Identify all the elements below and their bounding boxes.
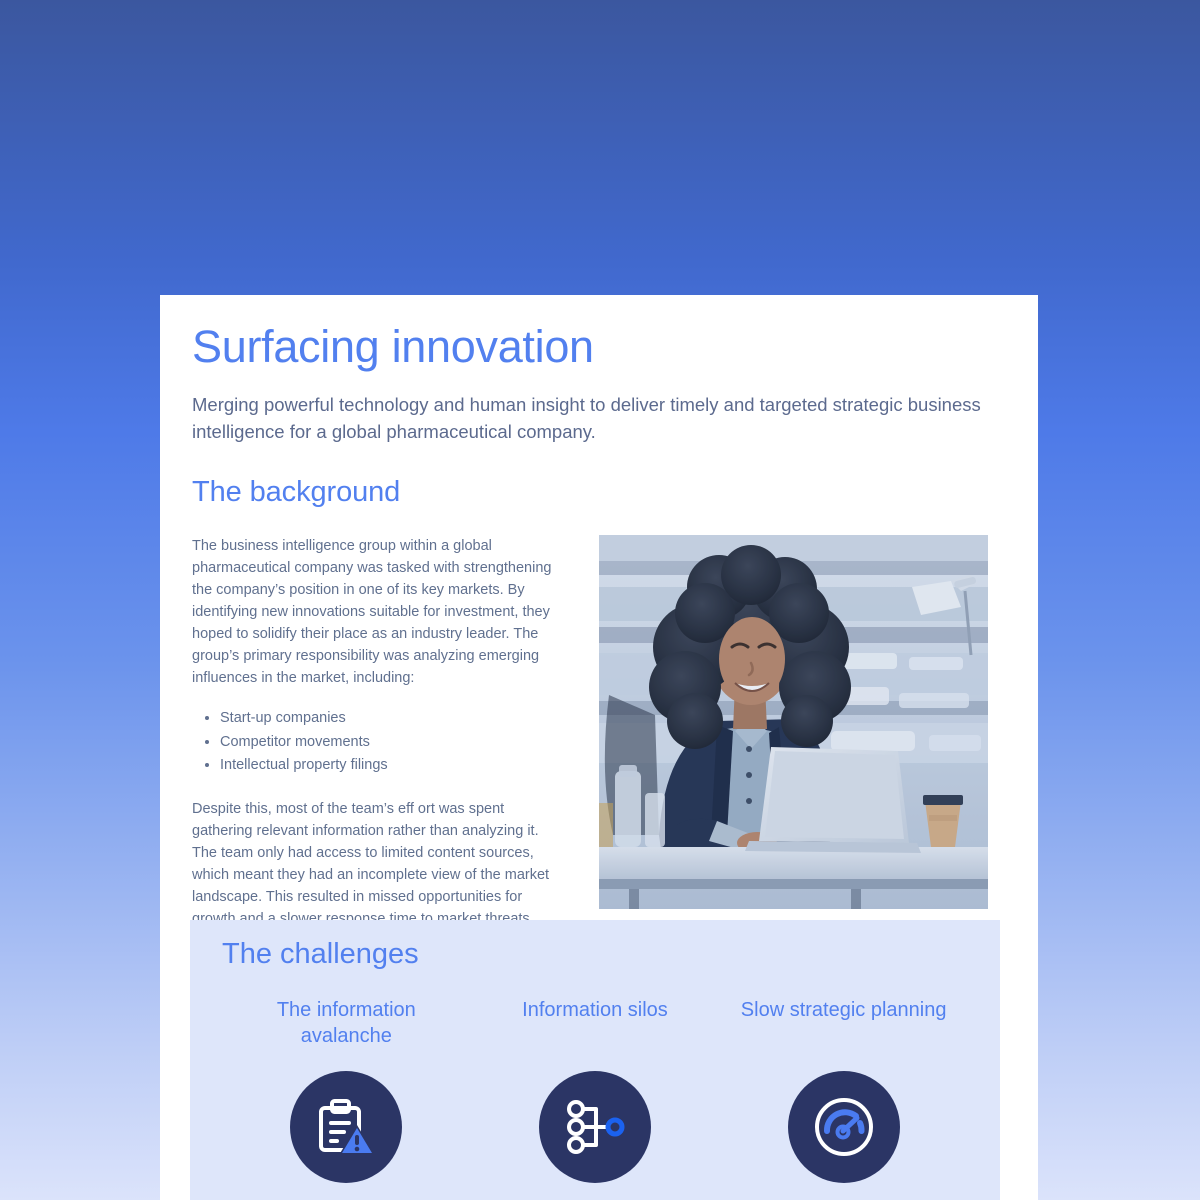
background-text-column: The business intelligence group within a… (192, 535, 567, 948)
challenge-item-information-avalanche[interactable]: The information avalanche (239, 997, 454, 1183)
background-paragraph-2: Despite this, most of the team’s eff ort… (192, 798, 567, 930)
background-paragraph-1: The business intelligence group within a… (192, 535, 567, 689)
challenge-icon-circle (539, 1071, 651, 1183)
hierarchy-merge-icon (564, 1096, 626, 1158)
background-columns: The business intelligence group within a… (192, 535, 1006, 948)
page-title: Surfacing innovation (192, 323, 1006, 370)
challenge-label: The information avalanche (239, 997, 454, 1053)
challenge-label: Slow strategic planning (741, 997, 947, 1053)
challenge-icon-circle (788, 1071, 900, 1183)
background-bullet-list: Start-up companies Competitor movements … (192, 707, 567, 777)
list-item: Intellectual property filings (220, 754, 567, 777)
page-canvas: Surfacing innovation Merging powerful te… (0, 0, 1200, 1200)
list-item: Start-up companies (220, 707, 567, 730)
challenge-item-slow-strategic-planning[interactable]: Slow strategic planning (736, 997, 951, 1183)
challenge-icon-circle (290, 1071, 402, 1183)
document-inner: Surfacing innovation Merging powerful te… (160, 295, 1038, 948)
challenge-item-information-silos[interactable]: Information silos (487, 997, 702, 1183)
section-heading-challenges: The challenges (222, 938, 968, 971)
challenges-panel: The challenges The information avalanche (190, 920, 1000, 1200)
challenge-items: The information avalanche (222, 997, 968, 1183)
list-item: Competitor movements (220, 731, 567, 754)
clipboard-warning-icon (315, 1096, 377, 1158)
document-subtitle: Merging powerful technology and human in… (192, 392, 982, 446)
background-photo (599, 535, 988, 909)
challenge-label: Information silos (522, 997, 668, 1053)
section-heading-background: The background (192, 476, 1006, 509)
speedometer-icon (812, 1095, 876, 1159)
